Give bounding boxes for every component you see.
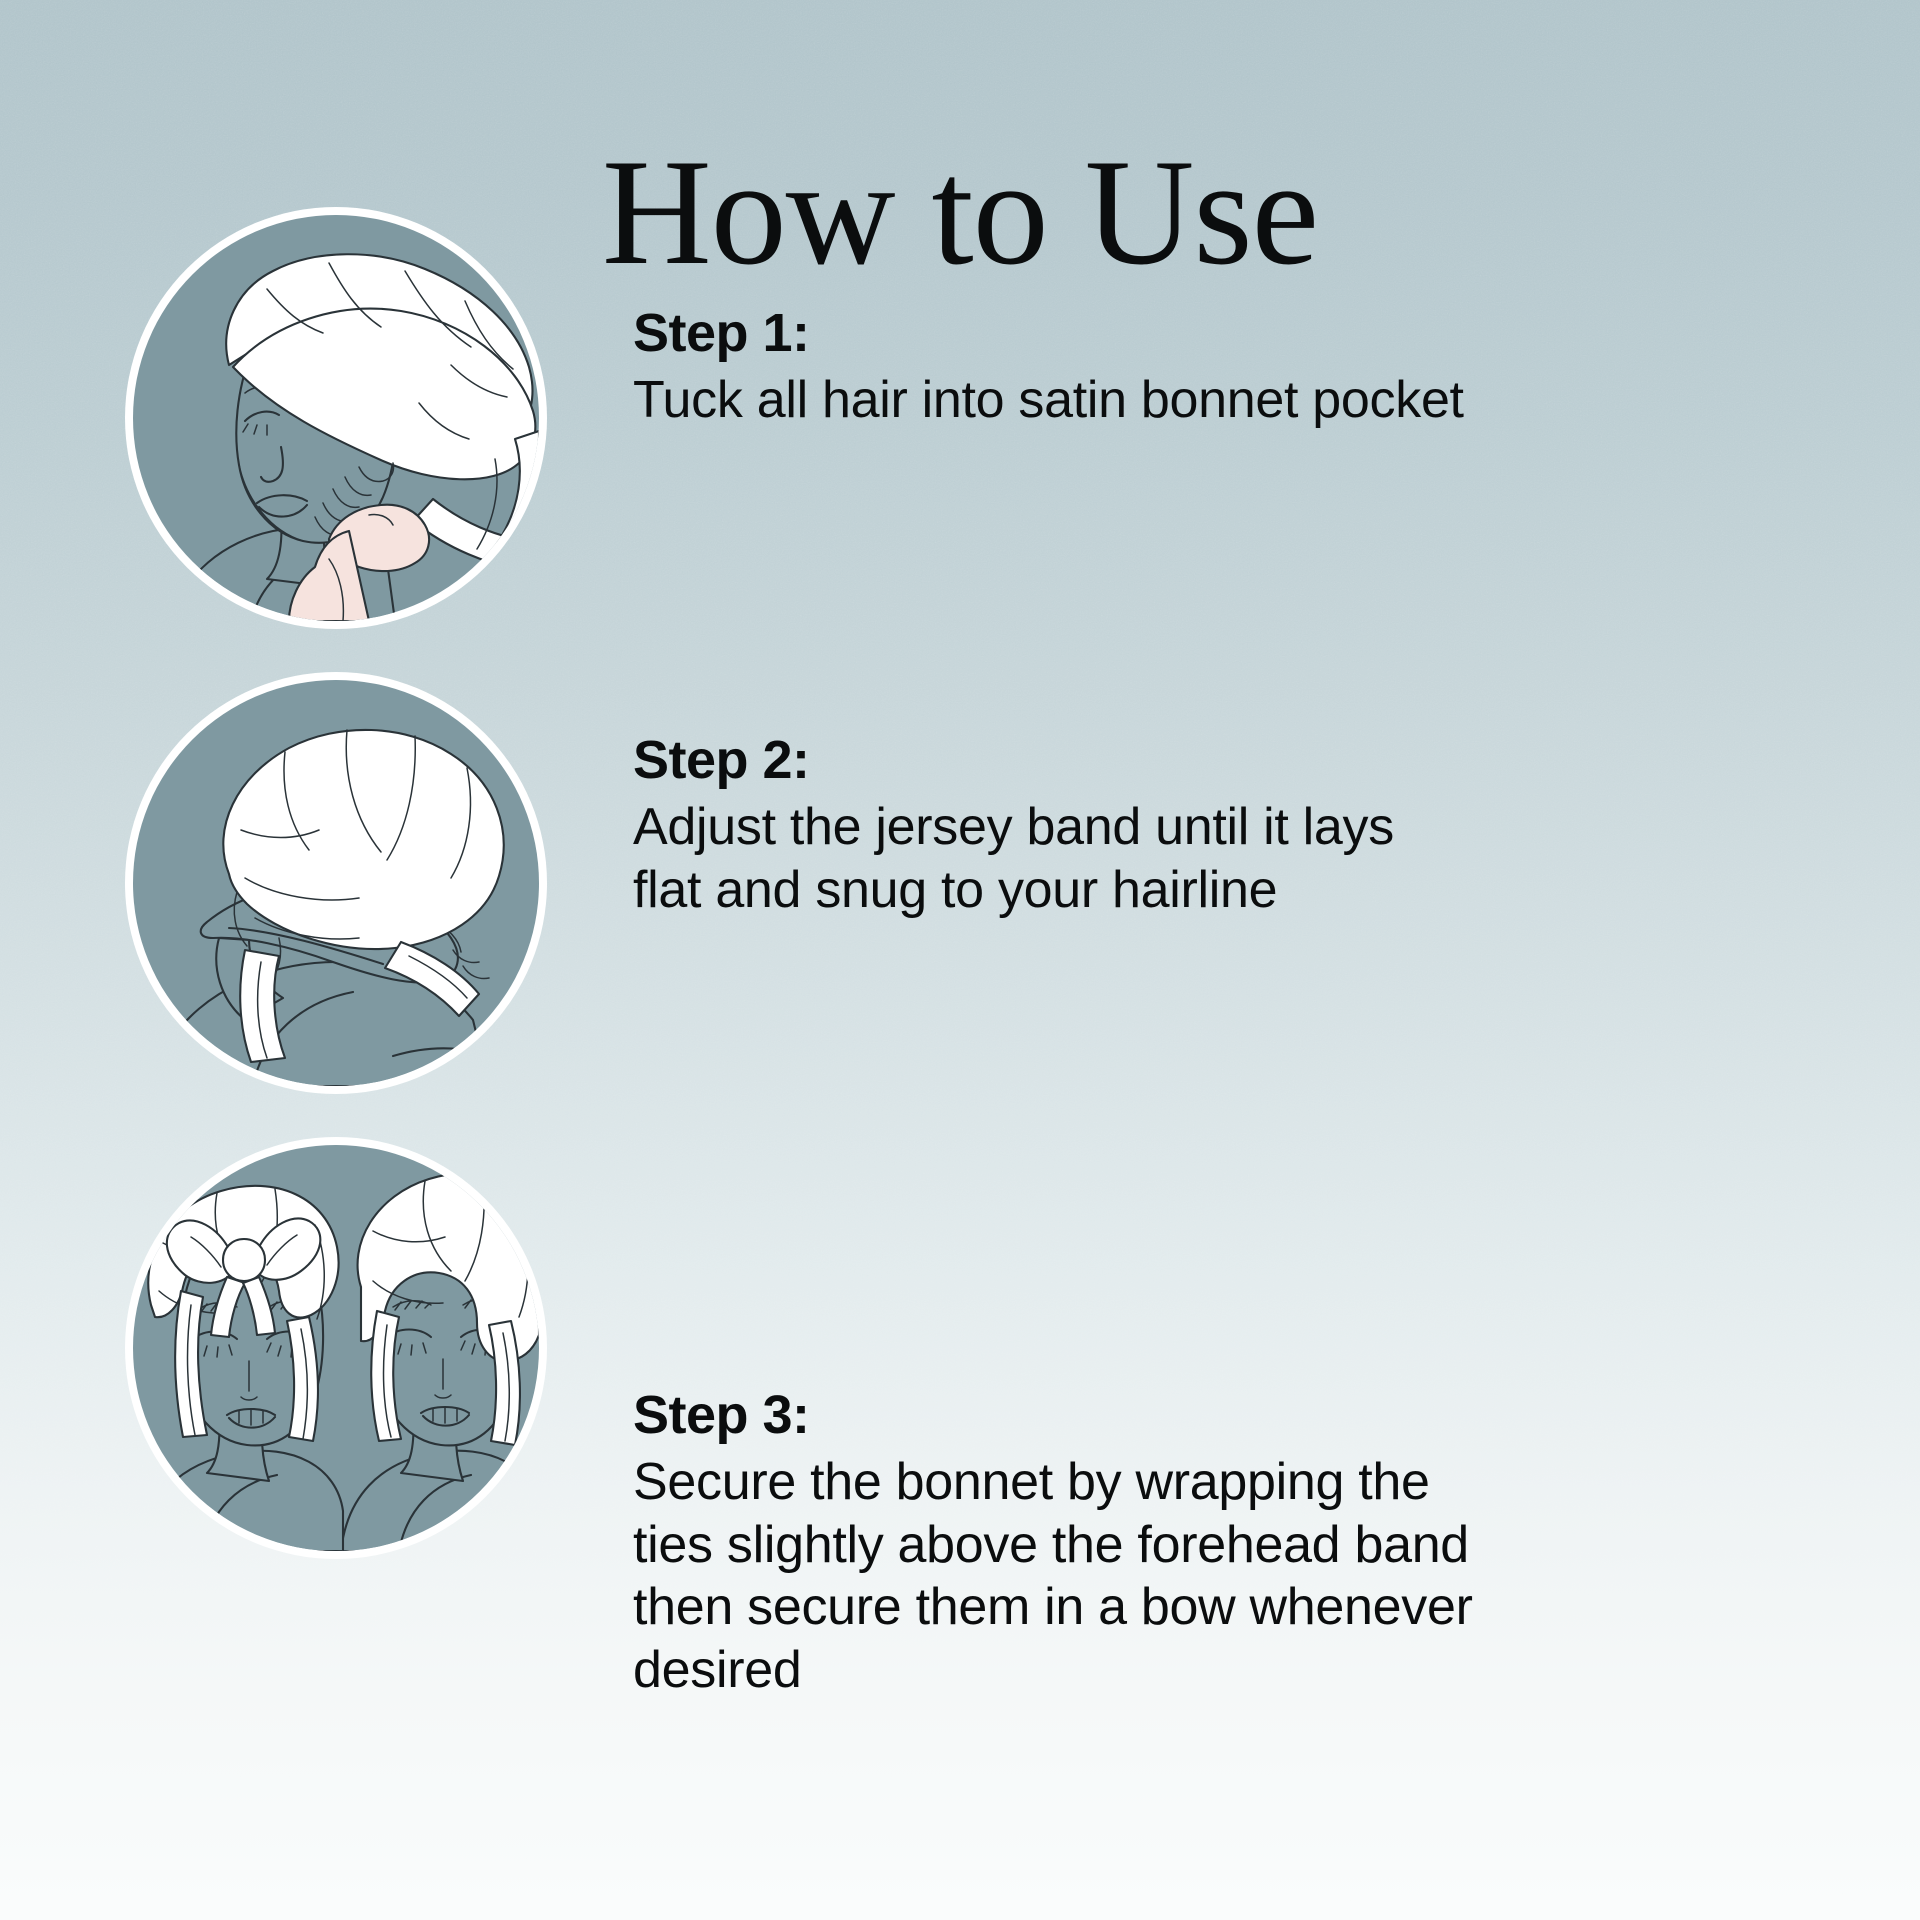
- step-3-illustration-circle: [133, 1145, 539, 1551]
- step-2-illustration-circle: [133, 680, 539, 1086]
- step-3-heading: Step 3:: [633, 1385, 1533, 1445]
- step-1-heading: Step 1:: [633, 303, 1493, 363]
- step-3-text: Step 3: Secure the bonnet by wrapping th…: [633, 1385, 1533, 1701]
- woman-tucking-hair-into-bonnet-icon: [133, 215, 539, 621]
- step-1-body: Tuck all hair into satin bonnet pocket: [633, 369, 1473, 431]
- step-2-text: Step 2: Adjust the jersey band until it …: [633, 730, 1493, 921]
- step-2-body: Adjust the jersey band until it lays fla…: [633, 796, 1473, 921]
- step-3-circle-fill: [133, 1145, 539, 1551]
- step-2-circle-fill: [133, 680, 539, 1086]
- step-1-text: Step 1: Tuck all hair into satin bonnet …: [633, 303, 1493, 432]
- step-3-body: Secure the bonnet by wrapping the ties s…: [633, 1451, 1513, 1701]
- two-women-wearing-bonnets-with-bow-icon: [133, 1145, 539, 1551]
- step-1-circle-fill: [133, 215, 539, 621]
- woman-adjusting-jersey-band-icon: [133, 680, 539, 1086]
- step-2-heading: Step 2:: [633, 730, 1493, 790]
- step-1-illustration-circle: [133, 215, 539, 621]
